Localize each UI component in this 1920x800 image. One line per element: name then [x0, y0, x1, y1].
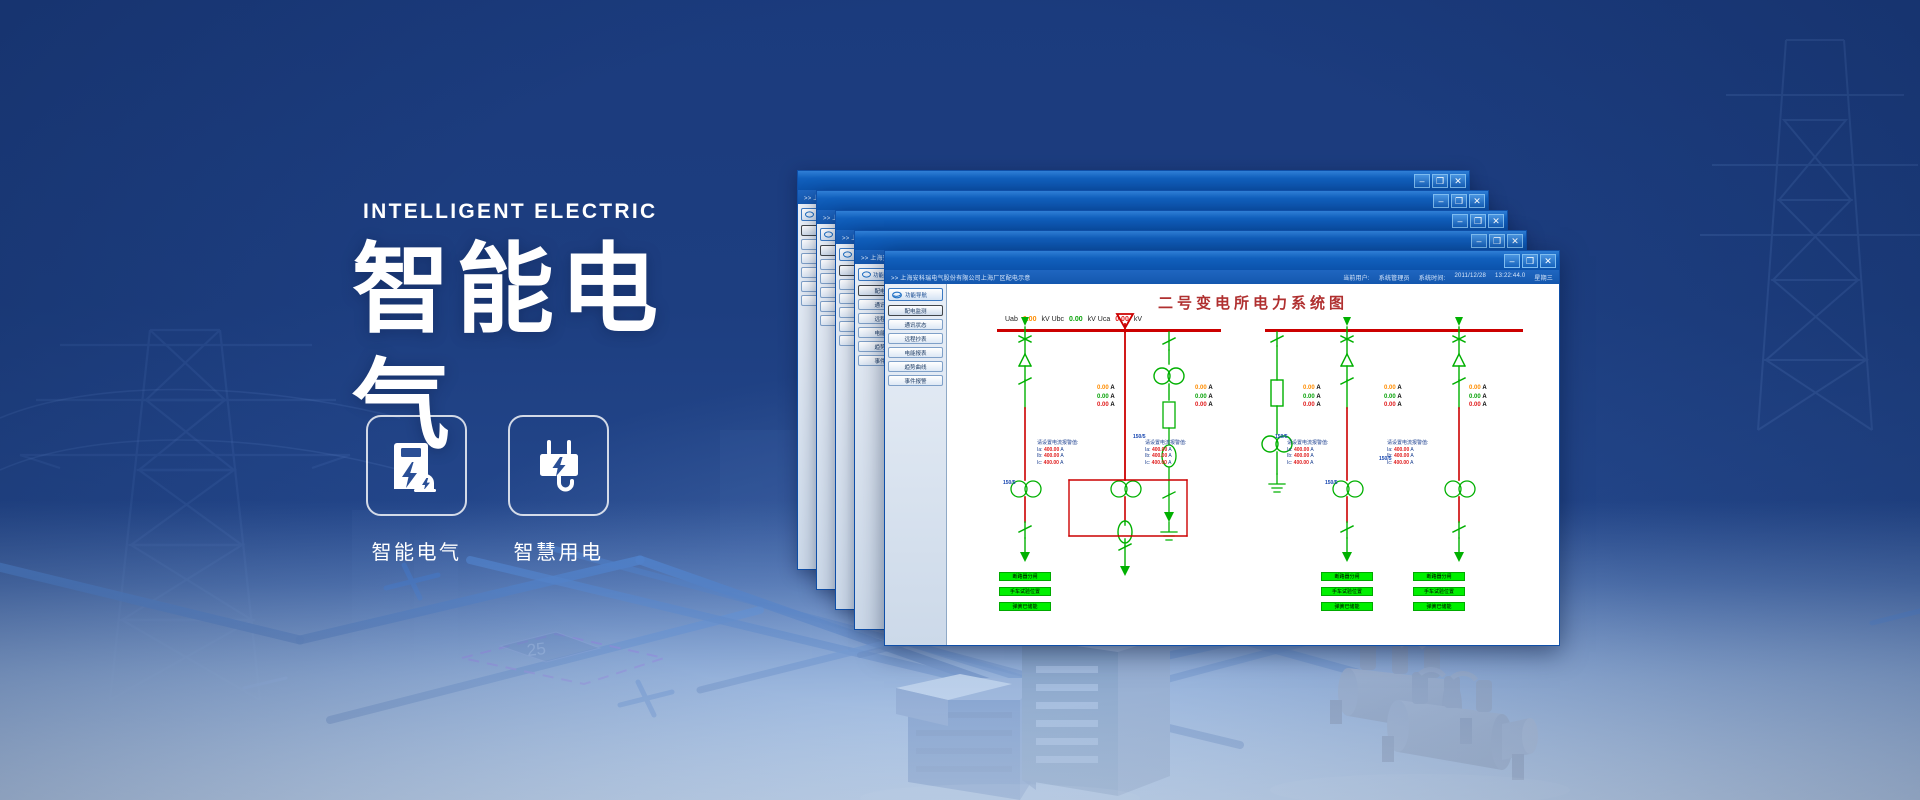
window-titlebar[interactable]: – ❐ ✕: [817, 191, 1488, 210]
ic-unit: A: [1397, 402, 1401, 408]
ia-setting-value: 400.00: [1294, 447, 1309, 453]
ia-setting-unit: A: [1310, 447, 1313, 453]
ia-setting-label: Ia:: [1037, 447, 1043, 453]
protection-title: 请设置电流报警值:: [1145, 440, 1186, 447]
maximize-button[interactable]: ❐: [1451, 194, 1467, 208]
ib-setting-unit: A: [1310, 453, 1313, 459]
ic-setting-value: 400.00: [1152, 460, 1167, 466]
ib-setting-value: 400.00: [1152, 453, 1167, 459]
status-truck-test[interactable]: 手车试验位置: [1321, 587, 1373, 596]
ib-unit: A: [1110, 394, 1114, 400]
protection-settings-1: 请设置电流报警值: Ia: 400.00 A Ib: 400.00 A Ic: …: [1037, 440, 1078, 466]
svg-text:150/5: 150/5: [1325, 480, 1338, 486]
ia-value: 0.00: [1195, 385, 1207, 391]
system-clock-value: 13:22:44.0: [1495, 273, 1525, 282]
navigation-icon: [892, 291, 903, 299]
protection-title: 请设置电流报警值:: [1037, 440, 1078, 447]
ia-unit: A: [1208, 385, 1212, 391]
minimize-button[interactable]: –: [1504, 254, 1520, 268]
close-button[interactable]: ✕: [1488, 214, 1504, 228]
ib-unit: A: [1316, 394, 1320, 400]
sidebar-item-comm-status[interactable]: 通讯状态: [888, 319, 943, 330]
navigation-icon: [843, 251, 852, 258]
protection-settings-3: 请设置电流报警值: Ia: 400.00 A Ib: 400.00 A Ic: …: [1287, 440, 1328, 466]
window-titlebar[interactable]: – ❐ ✕: [855, 231, 1526, 250]
ia-unit: A: [1110, 385, 1114, 391]
sidebar-item-trend-curve[interactable]: 趋势曲线: [888, 361, 943, 372]
ic-setting-unit: A: [1060, 460, 1063, 466]
status-spring-charged[interactable]: 弹簧已储能: [1321, 602, 1373, 611]
protection-settings-4: 请设置电流报警值: Ia: 400.00 A Ib: 400.00 A Ic: …: [1387, 440, 1428, 466]
window-status-group: 当前用户: 系统管理员 系统时间: 2011/12/28 13:22:44.0 …: [1343, 273, 1553, 282]
ia-setting-value: 400.00: [1044, 447, 1059, 453]
ib-value: 0.00: [1469, 394, 1481, 400]
ic-value: 0.00: [1384, 402, 1396, 408]
status-truck-test[interactable]: 手车试验位置: [1413, 587, 1465, 596]
ia-setting-label: Ia:: [1387, 447, 1393, 453]
minimize-button[interactable]: –: [1414, 174, 1430, 188]
close-button[interactable]: ✕: [1507, 234, 1523, 248]
ct-ratio-label-1: 150/5: [1133, 434, 1146, 440]
window-titlebar[interactable]: – ❐ ✕: [836, 211, 1507, 230]
ia-value: 0.00: [1303, 385, 1315, 391]
ib-setting-unit: A: [1168, 453, 1171, 459]
status-breaker-open[interactable]: 断路器分闸: [1413, 572, 1465, 581]
window-subtitle-text: >> 上海安科瑞电气股份有限公司上海厂区配电示意: [891, 273, 1030, 282]
diagram-canvas: 二号变电所电力系统图 Uab 0.00 kV Ubc 0.00 kV Uca 0…: [947, 284, 1559, 645]
ic-setting-label: Ic:: [1037, 460, 1042, 466]
current-user-label: 当前用户:: [1343, 273, 1370, 282]
system-time-label: 系统时间:: [1419, 273, 1446, 282]
ib-value: 0.00: [1097, 394, 1109, 400]
scada-window-active[interactable]: – ❐ ✕ >> 上海安科瑞电气股份有限公司上海厂区配电示意 当前用户: 系统管…: [884, 250, 1560, 646]
ib-setting-unit: A: [1060, 453, 1063, 459]
ib-unit: A: [1397, 394, 1401, 400]
sidebar-item-power-monitoring[interactable]: 配电监测: [888, 305, 943, 316]
close-button[interactable]: ✕: [1450, 174, 1466, 188]
ic-value: 0.00: [1469, 402, 1481, 408]
ic-unit: A: [1316, 402, 1320, 408]
window-titlebar[interactable]: – ❐ ✕: [798, 171, 1469, 190]
navigation-icon: [805, 211, 814, 218]
protection-settings-2: 请设置电流报警值: Ia: 400.00 A Ib: 400.00 A Ic: …: [1145, 440, 1186, 466]
ia-setting-unit: A: [1410, 447, 1413, 453]
ic-unit: A: [1208, 402, 1212, 408]
ic-setting-value: 400.00: [1294, 460, 1309, 466]
ic-setting-label: Ic:: [1145, 460, 1150, 466]
ia-setting-unit: A: [1168, 447, 1171, 453]
current-readout-feeder-3: 0.00 A 0.00 A 0.00 A: [1303, 384, 1321, 410]
ia-unit: A: [1316, 385, 1320, 391]
ia-unit: A: [1482, 385, 1486, 391]
ia-setting-label: Ia:: [1287, 447, 1293, 453]
status-spring-charged[interactable]: 弹簧已储能: [1413, 602, 1465, 611]
ia-value: 0.00: [1097, 385, 1109, 391]
ic-value: 0.00: [1303, 402, 1315, 408]
close-button[interactable]: ✕: [1469, 194, 1485, 208]
sidebar-item-remote-meter[interactable]: 远程抄表: [888, 333, 943, 344]
current-user-value: 系统管理员: [1379, 273, 1410, 282]
ia-value: 0.00: [1469, 385, 1481, 391]
window-titlebar[interactable]: – ❐ ✕: [885, 251, 1559, 270]
sidebar-header: 功能导航: [888, 288, 943, 301]
ic-setting-value: 400.00: [1044, 460, 1059, 466]
ib-unit: A: [1482, 394, 1486, 400]
ia-setting-label: Ia:: [1145, 447, 1151, 453]
maximize-button[interactable]: ❐: [1470, 214, 1486, 228]
minimize-button[interactable]: –: [1433, 194, 1449, 208]
ib-setting-label: Ib:: [1287, 453, 1293, 459]
ib-setting-label: Ib:: [1037, 453, 1043, 459]
current-readout-feeder-2: 0.00 A 0.00 A 0.00 A: [1195, 384, 1213, 410]
sidebar-item-energy-report[interactable]: 电能报表: [888, 347, 943, 358]
ic-setting-unit: A: [1310, 460, 1313, 466]
protection-title: 请设置电流报警值:: [1287, 440, 1328, 447]
ic-unit: A: [1110, 402, 1114, 408]
status-breaker-open[interactable]: 断路器分闸: [1321, 572, 1373, 581]
status-breaker-open[interactable]: 断路器分闸: [999, 572, 1051, 581]
window-subtitle-bar: >> 上海安科瑞电气股份有限公司上海厂区配电示意 当前用户: 系统管理员 系统时…: [885, 270, 1559, 284]
sidebar-header-label: 功能导航: [905, 291, 927, 299]
system-date-value: 2011/12/28: [1454, 273, 1486, 282]
sidebar-item-event-alarm[interactable]: 事件报警: [888, 375, 943, 386]
ia-value: 0.00: [1384, 385, 1396, 391]
ib-setting-value: 400.00: [1294, 453, 1309, 459]
maximize-button[interactable]: ❐: [1522, 254, 1538, 268]
ia-setting-value: 400.00: [1152, 447, 1167, 453]
close-button[interactable]: ✕: [1540, 254, 1556, 268]
ic-setting-unit: A: [1168, 460, 1171, 466]
ic-setting-value: 400.00: [1394, 460, 1409, 466]
ct-ratio-label-2: 150/5: [1275, 434, 1288, 440]
ib-value: 0.00: [1195, 394, 1207, 400]
ic-setting-unit: A: [1410, 460, 1413, 466]
ia-setting-unit: A: [1060, 447, 1063, 453]
ib-setting-unit: A: [1410, 453, 1413, 459]
ib-setting-value: 400.00: [1044, 453, 1059, 459]
ia-unit: A: [1397, 385, 1401, 391]
ib-setting-label: Ib:: [1145, 453, 1151, 459]
sidebar: 功能导航 配电监测 通讯状态 远程抄表 电能报表 趋势曲线 事件报警: [885, 284, 947, 645]
ib-unit: A: [1208, 394, 1212, 400]
ct-ratio-label-3: 150/5: [1379, 456, 1392, 462]
maximize-button[interactable]: ❐: [1489, 234, 1505, 248]
ic-value: 0.00: [1097, 402, 1109, 408]
status-truck-test[interactable]: 手车试验位置: [999, 587, 1051, 596]
minimize-button[interactable]: –: [1471, 234, 1487, 248]
ia-setting-value: 400.00: [1394, 447, 1409, 453]
current-readout-feeder-1: 0.00 A 0.00 A 0.00 A: [1097, 384, 1115, 410]
status-spring-charged[interactable]: 弹簧已储能: [999, 602, 1051, 611]
navigation-icon: [824, 231, 833, 238]
navigation-icon: [862, 271, 871, 278]
ib-value: 0.00: [1384, 394, 1396, 400]
window-body: 功能导航 配电监测 通讯状态 远程抄表 电能报表 趋势曲线 事件报警 二号变电所…: [885, 284, 1559, 645]
current-readout-feeder-4: 0.00 A 0.00 A 0.00 A: [1384, 384, 1402, 410]
current-readout-feeder-5: 0.00 A 0.00 A 0.00 A: [1469, 384, 1487, 410]
ic-unit: A: [1482, 402, 1486, 408]
minimize-button[interactable]: –: [1452, 214, 1468, 228]
svg-text:150/5: 150/5: [1003, 480, 1016, 486]
ib-setting-value: 400.00: [1394, 453, 1409, 459]
system-weekday-value: 星期三: [1534, 273, 1553, 282]
ib-value: 0.00: [1303, 394, 1315, 400]
scada-window-stack: – ❐ ✕ >> 上海安科瑞电气股份有限公司上海厂区配电示意 当前用户: 系统管…: [0, 0, 1920, 800]
ic-setting-label: Ic:: [1287, 460, 1292, 466]
protection-title: 请设置电流报警值:: [1387, 440, 1428, 447]
maximize-button[interactable]: ❐: [1432, 174, 1448, 188]
ic-value: 0.00: [1195, 402, 1207, 408]
